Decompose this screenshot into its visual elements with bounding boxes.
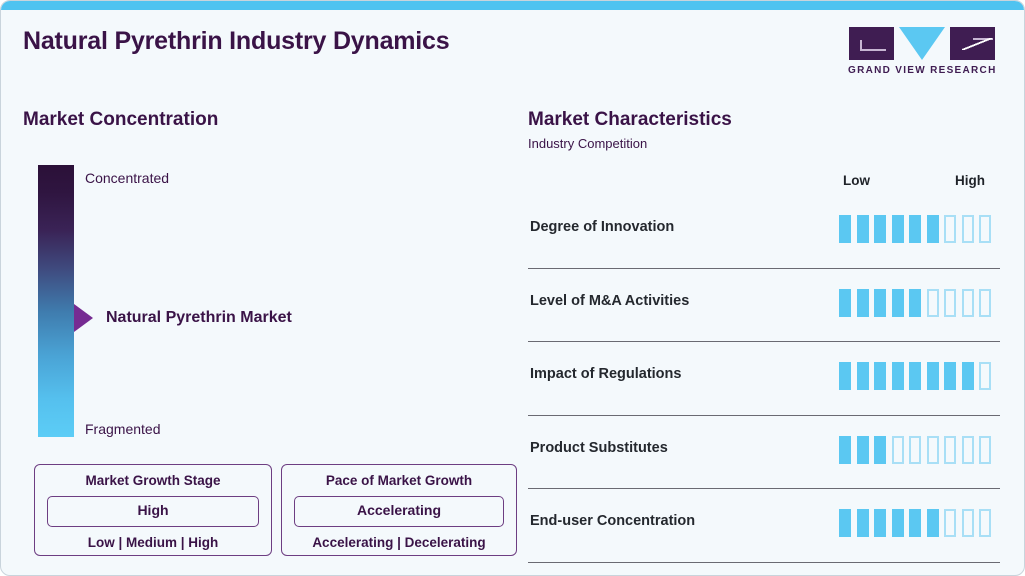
characteristic-rating-bars (839, 215, 991, 243)
rating-tick-filled (857, 289, 869, 317)
top-accent-bar (1, 1, 1024, 10)
rating-tick-empty (979, 362, 991, 390)
market-growth-stage-title: Market Growth Stage (47, 474, 259, 489)
characteristic-label: Impact of Regulations (530, 366, 681, 382)
rating-tick-filled (839, 215, 851, 243)
pace-of-market-growth-box: Pace of Market Growth Accelerating Accel… (281, 464, 517, 556)
concentration-scale: Concentrated Fragmented Natural Pyrethri… (23, 165, 503, 437)
market-growth-stage-value: High (137, 502, 168, 518)
logo-wordmark: GRAND VIEW RESEARCH (848, 65, 996, 76)
scale-bottom-label: Fragmented (85, 421, 160, 437)
characteristic-row: End-user Concentration (528, 489, 1000, 563)
market-position-marker: Natural Pyrethrin Market (74, 304, 292, 332)
rating-scale-header: Low High (528, 173, 1000, 195)
characteristic-label: Level of M&A Activities (530, 293, 689, 309)
rating-scale-low-label: Low (843, 173, 870, 188)
pace-of-market-growth-value: Accelerating (357, 502, 441, 518)
rating-tick-filled (857, 362, 869, 390)
rating-tick-filled (909, 509, 921, 537)
characteristic-label: End-user Concentration (530, 513, 695, 529)
logo-square-right-icon (950, 27, 995, 60)
rating-tick-filled (874, 215, 886, 243)
characteristic-rating-bars (839, 436, 991, 464)
rating-tick-filled (874, 436, 886, 464)
rating-tick-empty (962, 509, 974, 537)
characteristic-rating-bars (839, 362, 991, 390)
pace-of-market-growth-title: Pace of Market Growth (294, 474, 504, 489)
rating-tick-filled (839, 289, 851, 317)
rating-tick-filled (909, 362, 921, 390)
marker-label: Natural Pyrethrin Market (106, 309, 292, 327)
rating-tick-filled (927, 362, 939, 390)
rating-tick-filled (839, 362, 851, 390)
rating-tick-filled (892, 509, 904, 537)
rating-tick-empty (979, 436, 991, 464)
characteristic-row: Impact of Regulations (528, 342, 1000, 416)
rating-tick-empty (927, 436, 939, 464)
logo-triangle-icon (899, 27, 945, 60)
rating-tick-filled (892, 215, 904, 243)
rating-tick-empty (962, 436, 974, 464)
market-characteristics-panel: Market Characteristics Industry Competit… (528, 109, 1000, 563)
characteristics-rows: Degree of InnovationLevel of M&A Activit… (528, 195, 1000, 563)
rating-tick-empty (892, 436, 904, 464)
brand-logo: GRAND VIEW RESEARCH (848, 27, 996, 76)
rating-tick-empty (944, 436, 956, 464)
rating-tick-filled (892, 289, 904, 317)
rating-tick-empty (944, 509, 956, 537)
rating-tick-filled (874, 509, 886, 537)
rating-tick-empty (944, 215, 956, 243)
rating-tick-filled (927, 509, 939, 537)
marker-arrow-icon (74, 304, 93, 332)
rating-tick-filled (857, 509, 869, 537)
characteristic-row: Product Substitutes (528, 416, 1000, 490)
rating-tick-filled (874, 289, 886, 317)
rating-tick-empty (927, 289, 939, 317)
market-growth-stage-value-box: High (47, 496, 259, 527)
characteristic-row: Level of M&A Activities (528, 269, 1000, 343)
rating-tick-filled (857, 436, 869, 464)
rating-tick-empty (962, 215, 974, 243)
rating-tick-filled (909, 289, 921, 317)
market-concentration-title: Market Concentration (23, 109, 503, 131)
pace-of-market-growth-options: Accelerating | Decelerating (294, 535, 504, 550)
rating-tick-filled (944, 362, 956, 390)
rating-tick-empty (979, 215, 991, 243)
rating-tick-empty (944, 289, 956, 317)
logo-marks (848, 27, 996, 60)
rating-tick-filled (839, 509, 851, 537)
rating-tick-filled (857, 215, 869, 243)
page-title: Natural Pyrethrin Industry Dynamics (23, 27, 449, 56)
market-growth-stage-box: Market Growth Stage High Low | Medium | … (34, 464, 272, 556)
stat-boxes: Market Growth Stage High Low | Medium | … (34, 464, 517, 556)
market-characteristics-subtitle: Industry Competition (528, 136, 1000, 151)
characteristic-rating-bars (839, 289, 991, 317)
rating-tick-empty (979, 289, 991, 317)
characteristic-rating-bars (839, 509, 991, 537)
rating-tick-filled (839, 436, 851, 464)
rating-scale-high-label: High (955, 173, 985, 188)
rating-tick-filled (962, 362, 974, 390)
pace-of-market-growth-value-box: Accelerating (294, 496, 504, 527)
rating-tick-filled (909, 215, 921, 243)
rating-tick-filled (927, 215, 939, 243)
market-characteristics-title: Market Characteristics (528, 109, 1000, 131)
rating-tick-filled (892, 362, 904, 390)
rating-tick-filled (874, 362, 886, 390)
rating-tick-empty (962, 289, 974, 317)
market-growth-stage-options: Low | Medium | High (47, 535, 259, 550)
market-concentration-panel: Market Concentration Concentrated Fragme… (23, 109, 503, 437)
characteristic-label: Product Substitutes (530, 440, 668, 456)
concentration-gradient-bar (38, 165, 74, 437)
scale-top-label: Concentrated (85, 170, 169, 186)
report-card: Natural Pyrethrin Industry Dynamics GRAN… (0, 0, 1025, 576)
characteristic-label: Degree of Innovation (530, 219, 674, 235)
rating-tick-empty (909, 436, 921, 464)
characteristic-row: Degree of Innovation (528, 195, 1000, 269)
rating-tick-empty (979, 509, 991, 537)
logo-square-left-icon (849, 27, 894, 60)
